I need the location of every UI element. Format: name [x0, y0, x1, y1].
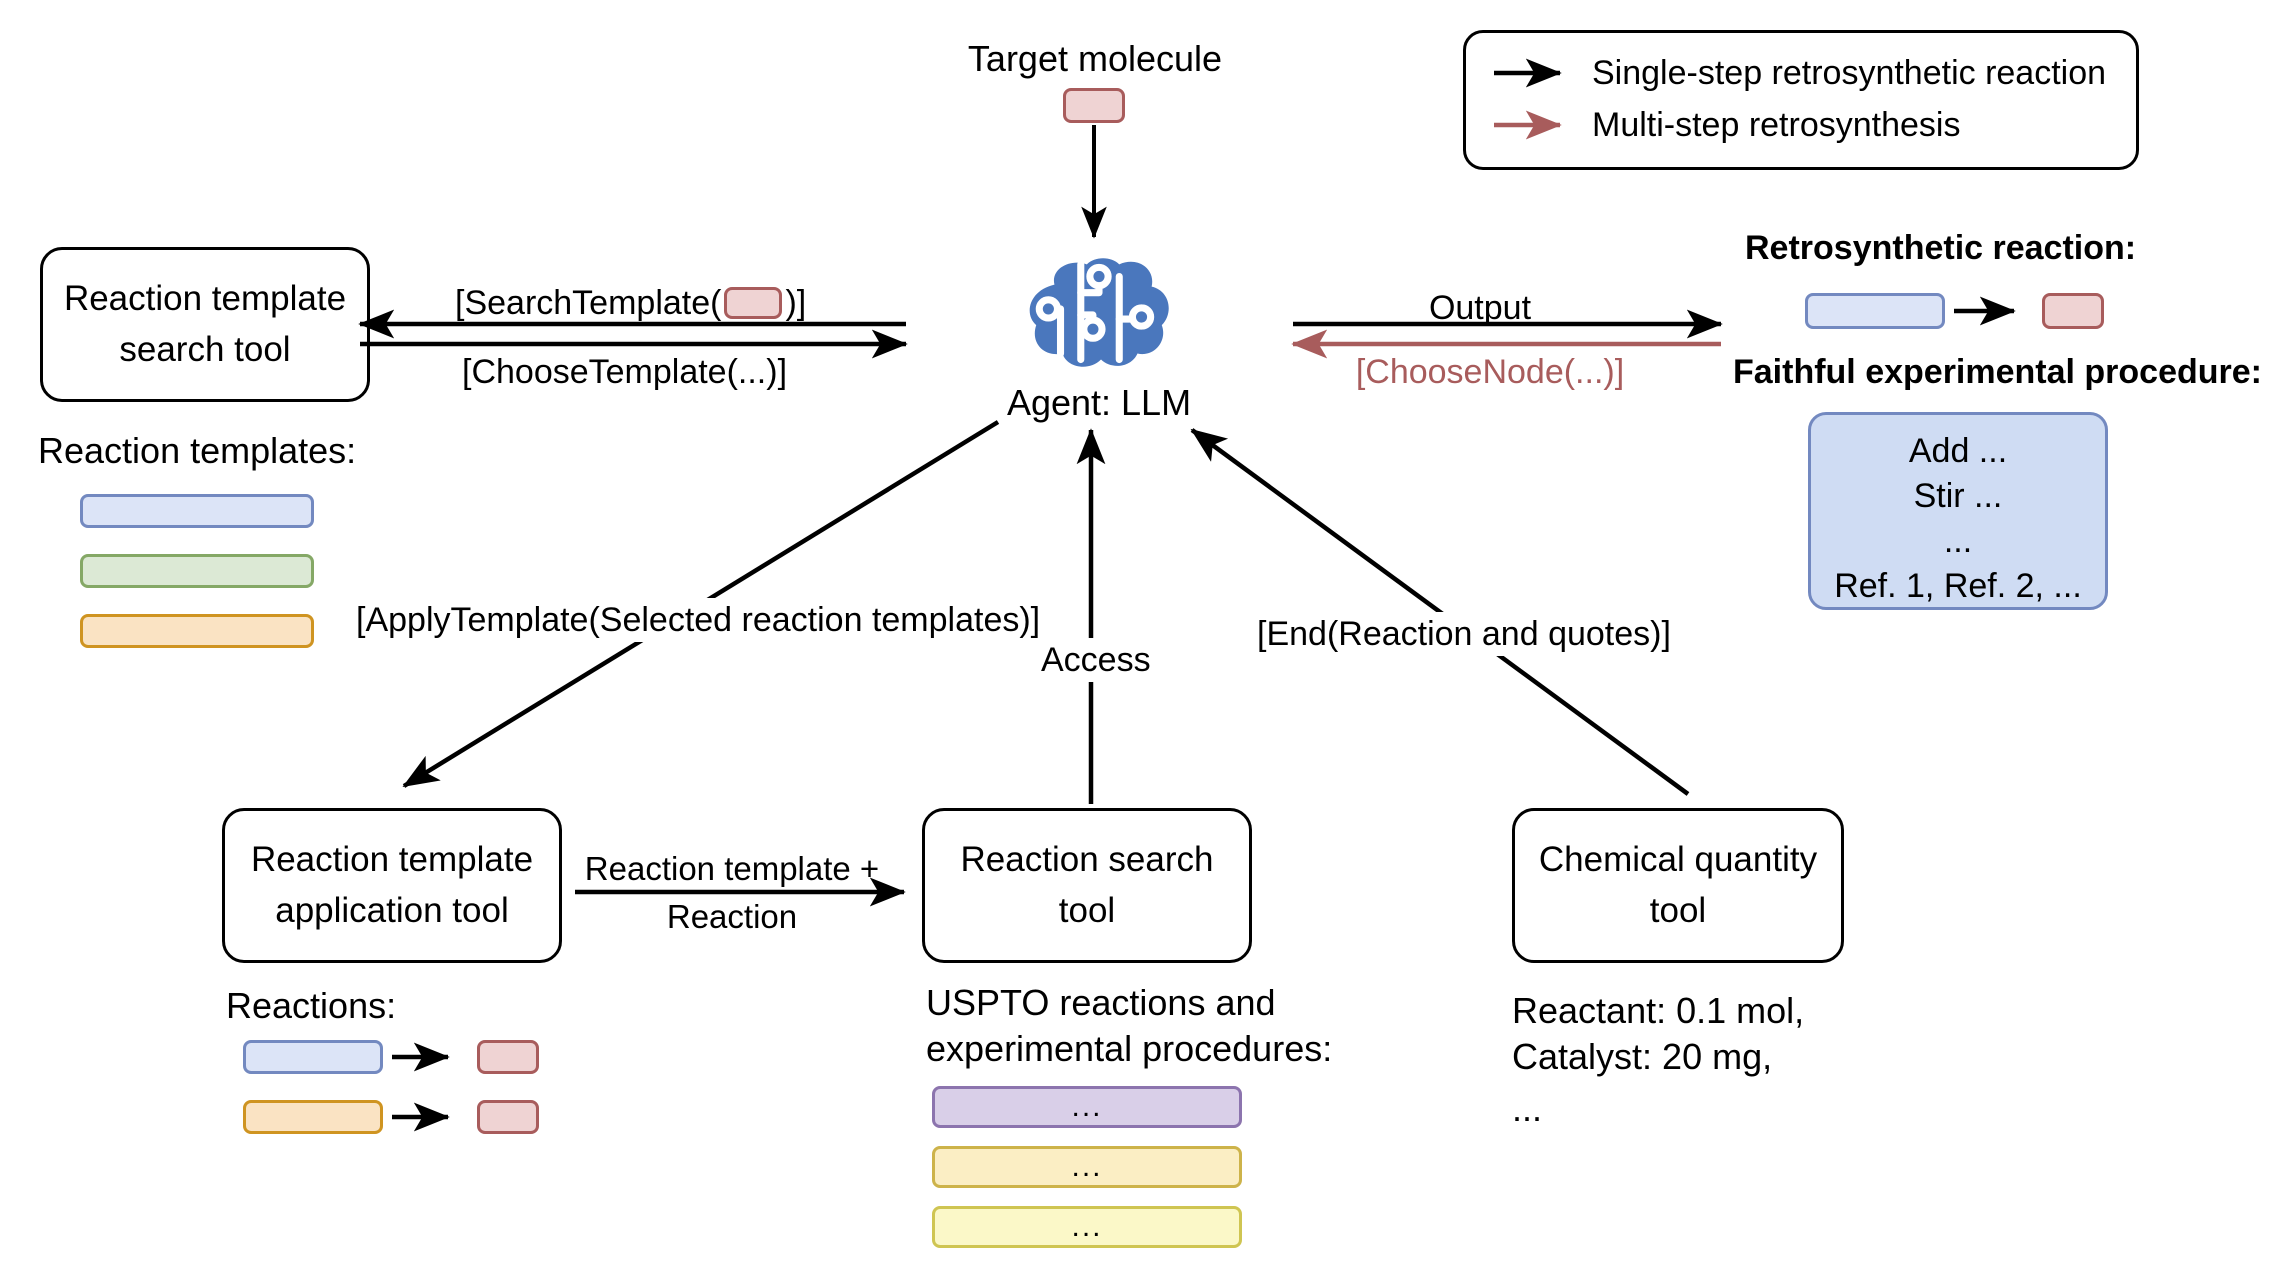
uspto-item-3: ...	[932, 1206, 1242, 1248]
retrosynthetic-reaction-title: Retrosynthetic reaction:	[1745, 228, 2136, 268]
reaction-template-item-3	[80, 614, 314, 648]
tool-label-line1: Reaction search	[961, 840, 1214, 879]
brain-chip-icon	[1018, 258, 1180, 376]
tool-label-line2: application tool	[275, 891, 509, 930]
arrow-right-icon	[1492, 60, 1574, 86]
reaction-template-item-2	[80, 554, 314, 588]
tool-label-line1: Reaction template	[64, 279, 346, 318]
tool-label-line2: tool	[1059, 891, 1115, 930]
reaction-templates-title: Reaction templates:	[38, 430, 356, 472]
reaction-search-tool[interactable]: Reaction search tool	[922, 808, 1252, 963]
tool-label-line1: Chemical quantity	[1539, 840, 1817, 879]
experimental-procedure-box: Add ... Stir ... ... Ref. 1, Ref. 2, ...	[1808, 412, 2108, 610]
tool-label-line1: Reaction template	[251, 840, 533, 879]
procedure-line-3: ...	[1811, 519, 2105, 564]
legend-item-single-step: Single-step retrosynthetic reaction	[1492, 47, 2106, 99]
uspto-item-2: ...	[932, 1146, 1242, 1188]
uspto-title-line1: USPTO reactions and	[926, 982, 1276, 1024]
choose-template-label: [ChooseTemplate(...)]	[462, 352, 787, 392]
target-molecule-chip	[1063, 88, 1125, 123]
arrow-right-icon	[1492, 112, 1574, 138]
arrow-reaction-search-to-agent	[1078, 420, 1118, 810]
legend-item-multi-step: Multi-step retrosynthesis	[1492, 99, 2106, 151]
search-template-molecule-chip	[724, 287, 782, 319]
procedure-line-2: Stir ...	[1811, 474, 2105, 519]
reaction-template-application-tool[interactable]: Reaction template application tool	[222, 808, 562, 963]
reaction-row-1-reactant-chip	[243, 1040, 383, 1074]
diagram-canvas: Target molecule Single-step retrosynthet…	[0, 0, 2295, 1263]
quantity-line-1: Reactant: 0.1 mol,	[1512, 990, 1804, 1032]
tool-label-line2: search tool	[119, 330, 290, 369]
quantity-line-2: Catalyst: 20 mg,	[1512, 1036, 1772, 1078]
arrow-reaction-row-1	[390, 1043, 470, 1075]
reaction-row-2-product-chip	[477, 1100, 539, 1134]
retro-reactant-chip	[1805, 293, 1945, 329]
faithful-procedure-title: Faithful experimental procedure:	[1733, 352, 2262, 392]
template-plus-reaction-label-line2: Reaction	[572, 898, 892, 937]
end-reaction-label: [End(Reaction and quotes)]	[1252, 612, 1676, 656]
tool-label-line2: tool	[1650, 891, 1706, 930]
apply-template-label: [ApplyTemplate(Selected reaction templat…	[352, 598, 1044, 642]
access-label: Access	[1036, 638, 1156, 682]
reaction-row-1-product-chip	[477, 1040, 539, 1074]
arrow-reaction-row-2	[390, 1103, 470, 1135]
agent-label: Agent: LLM	[999, 382, 1199, 424]
reaction-row-2-reactant-chip	[243, 1100, 383, 1134]
reaction-template-search-tool[interactable]: Reaction template search tool	[40, 247, 370, 402]
procedure-line-4: Ref. 1, Ref. 2, ...	[1811, 564, 2105, 609]
target-molecule-label: Target molecule	[955, 38, 1235, 80]
procedure-line-1: Add ...	[1811, 429, 2105, 474]
legend-item-label: Single-step retrosynthetic reaction	[1592, 54, 2106, 93]
retro-product-chip	[2042, 293, 2104, 329]
chemical-quantity-tool[interactable]: Chemical quantity tool	[1512, 808, 1844, 963]
uspto-item-1: ...	[932, 1086, 1242, 1128]
uspto-title-line2: experimental procedures:	[926, 1028, 1332, 1070]
reaction-template-item-1	[80, 494, 314, 528]
choose-node-label: [ChooseNode(...)]	[1330, 352, 1650, 392]
quantity-line-3: ...	[1512, 1088, 1542, 1130]
legend-box: Single-step retrosynthetic reaction Mult…	[1463, 30, 2139, 170]
arrow-target-to-agent	[1060, 125, 1140, 255]
reactions-title: Reactions:	[226, 985, 396, 1027]
legend-item-label: Multi-step retrosynthesis	[1592, 106, 1960, 145]
arrow-retro-reaction	[1952, 296, 2034, 330]
